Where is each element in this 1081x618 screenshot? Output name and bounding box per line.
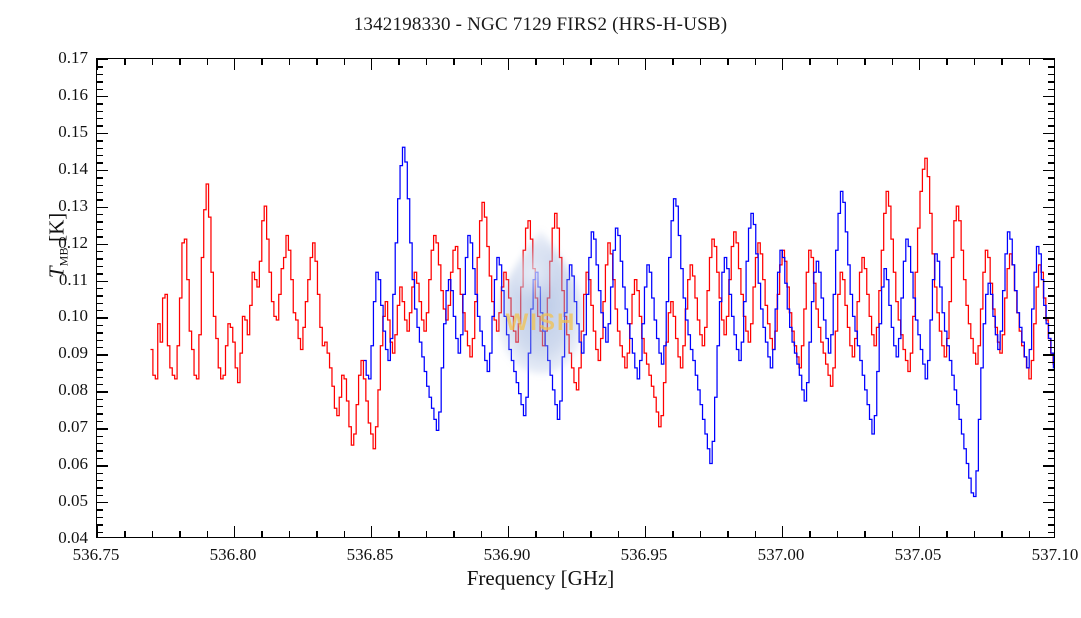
x-minor-tick-top	[946, 59, 947, 65]
x-minor-tick	[316, 531, 317, 537]
y-minor-tick	[97, 162, 103, 163]
spectrum-plot-figure: 1342198330 - NGC 7129 FIRS2 (HRS-H-USB) …	[0, 0, 1081, 618]
y-minor-tick	[97, 487, 103, 488]
y-minor-tick	[97, 495, 103, 496]
x-major-tick	[508, 526, 509, 537]
spectrum-traces	[97, 59, 1054, 537]
y-minor-tick-right	[1048, 509, 1054, 510]
x-minor-tick-top	[344, 59, 345, 65]
y-major-tick-right	[1043, 170, 1054, 171]
x-tick-label: 537.05	[895, 545, 942, 565]
x-major-tick-top	[508, 59, 509, 70]
x-minor-tick	[124, 531, 125, 537]
y-major-tick	[97, 207, 108, 208]
y-minor-tick-right	[1048, 251, 1054, 252]
y-minor-tick-right	[1048, 377, 1054, 378]
y-minor-tick-right	[1048, 236, 1054, 237]
y-minor-tick	[97, 111, 103, 112]
y-minor-tick-right	[1048, 406, 1054, 407]
y-minor-tick-right	[1048, 399, 1054, 400]
x-minor-tick	[700, 531, 701, 537]
y-minor-tick-right	[1048, 362, 1054, 363]
y-major-tick	[97, 428, 108, 429]
spectrum-trace-blue-spectrum	[364, 136, 1054, 496]
y-minor-tick	[97, 288, 103, 289]
y-minor-tick-right	[1048, 458, 1054, 459]
x-minor-tick	[946, 531, 947, 537]
x-minor-tick	[289, 531, 290, 537]
y-major-tick	[97, 354, 108, 355]
x-minor-tick	[535, 531, 536, 537]
y-minor-tick-right	[1048, 325, 1054, 326]
x-minor-tick-top	[316, 59, 317, 65]
x-minor-tick	[344, 531, 345, 537]
y-tick-label: 0.08	[4, 380, 88, 400]
x-minor-tick	[1029, 531, 1030, 537]
y-major-tick-right	[1043, 465, 1054, 466]
y-tick-label: 0.16	[4, 85, 88, 105]
y-minor-tick-right	[1048, 473, 1054, 474]
y-tick-label: 0.14	[4, 159, 88, 179]
x-minor-tick-top	[974, 59, 975, 65]
y-minor-tick-right	[1048, 162, 1054, 163]
y-minor-tick	[97, 480, 103, 481]
y-minor-tick	[97, 81, 103, 82]
y-major-tick-right	[1043, 96, 1054, 97]
y-minor-tick	[97, 273, 103, 274]
plot-area: WISH	[96, 58, 1055, 538]
x-minor-tick	[864, 531, 865, 537]
x-minor-tick-top	[590, 59, 591, 65]
y-minor-tick	[97, 369, 103, 370]
x-minor-tick-top	[152, 59, 153, 65]
y-minor-tick-right	[1048, 347, 1054, 348]
y-minor-tick	[97, 450, 103, 451]
y-minor-tick-right	[1048, 74, 1054, 75]
y-minor-tick	[97, 406, 103, 407]
x-minor-tick	[179, 531, 180, 537]
x-major-tick-top	[371, 59, 372, 70]
y-minor-tick	[97, 436, 103, 437]
y-major-tick	[97, 317, 108, 318]
y-minor-tick	[97, 258, 103, 259]
x-major-tick-top	[919, 59, 920, 70]
x-minor-tick-top	[179, 59, 180, 65]
y-minor-tick-right	[1048, 332, 1054, 333]
y-major-tick-right	[1043, 502, 1054, 503]
y-minor-tick	[97, 214, 103, 215]
x-minor-tick	[453, 531, 454, 537]
y-minor-tick-right	[1048, 118, 1054, 119]
y-minor-tick	[97, 384, 103, 385]
y-minor-tick	[97, 399, 103, 400]
y-minor-tick-right	[1048, 125, 1054, 126]
x-minor-tick-top	[864, 59, 865, 65]
x-major-tick	[645, 526, 646, 537]
x-tick-label: 536.90	[484, 545, 531, 565]
y-minor-tick	[97, 118, 103, 119]
y-minor-tick-right	[1048, 532, 1054, 533]
y-minor-tick-right	[1048, 369, 1054, 370]
y-minor-tick	[97, 295, 103, 296]
y-minor-tick	[97, 185, 103, 186]
y-major-tick	[97, 133, 108, 134]
y-major-tick-right	[1043, 354, 1054, 355]
x-minor-tick-top	[261, 59, 262, 65]
y-minor-tick-right	[1048, 384, 1054, 385]
x-minor-tick	[1001, 531, 1002, 537]
y-major-tick-right	[1043, 317, 1054, 318]
y-minor-tick-right	[1048, 221, 1054, 222]
y-minor-tick	[97, 192, 103, 193]
y-minor-tick	[97, 332, 103, 333]
y-major-tick	[97, 281, 108, 282]
y-major-tick-right	[1043, 207, 1054, 208]
y-minor-tick-right	[1048, 89, 1054, 90]
y-tick-label: 0.07	[4, 417, 88, 437]
y-tick-label: 0.09	[4, 343, 88, 363]
x-minor-tick-top	[289, 59, 290, 65]
x-minor-tick-top	[426, 59, 427, 65]
x-minor-tick-top	[1001, 59, 1002, 65]
x-minor-tick	[481, 531, 482, 537]
y-minor-tick-right	[1048, 517, 1054, 518]
y-axis-title-symbol: T	[45, 266, 69, 278]
y-minor-tick	[97, 413, 103, 414]
y-minor-tick	[97, 473, 103, 474]
y-minor-tick-right	[1048, 273, 1054, 274]
y-minor-tick-right	[1048, 214, 1054, 215]
y-minor-tick	[97, 251, 103, 252]
y-minor-tick	[97, 125, 103, 126]
page-title: 1342198330 - NGC 7129 FIRS2 (HRS-H-USB)	[0, 14, 1081, 36]
y-minor-tick	[97, 458, 103, 459]
y-minor-tick	[97, 303, 103, 304]
y-minor-tick	[97, 517, 103, 518]
y-minor-tick	[97, 74, 103, 75]
y-minor-tick	[97, 524, 103, 525]
y-minor-tick-right	[1048, 443, 1054, 444]
y-major-tick-right	[1043, 391, 1054, 392]
y-minor-tick	[97, 155, 103, 156]
x-minor-tick	[152, 531, 153, 537]
y-tick-label: 0.04	[4, 528, 88, 548]
y-minor-tick-right	[1048, 199, 1054, 200]
y-minor-tick-right	[1048, 288, 1054, 289]
y-minor-tick-right	[1048, 421, 1054, 422]
y-major-tick	[97, 96, 108, 97]
y-minor-tick	[97, 89, 103, 90]
x-minor-tick	[618, 531, 619, 537]
x-minor-tick-top	[672, 59, 673, 65]
x-major-tick	[371, 526, 372, 537]
y-tick-label: 0.10	[4, 306, 88, 326]
x-minor-tick-top	[1029, 59, 1030, 65]
x-minor-tick-top	[535, 59, 536, 65]
x-minor-tick	[755, 531, 756, 537]
y-minor-tick-right	[1048, 524, 1054, 525]
x-minor-tick	[809, 531, 810, 537]
y-minor-tick	[97, 221, 103, 222]
x-major-tick	[919, 526, 920, 537]
y-minor-tick	[97, 229, 103, 230]
y-axis-title-unit: [K]	[45, 213, 69, 247]
x-minor-tick	[590, 531, 591, 537]
x-major-tick	[782, 526, 783, 537]
y-major-tick	[97, 391, 108, 392]
x-major-tick	[234, 526, 235, 537]
y-major-tick-right	[1043, 281, 1054, 282]
y-minor-tick-right	[1048, 185, 1054, 186]
y-minor-tick	[97, 443, 103, 444]
y-minor-tick-right	[1048, 103, 1054, 104]
y-major-tick	[97, 59, 108, 60]
y-minor-tick	[97, 177, 103, 178]
x-minor-tick-top	[837, 59, 838, 65]
y-major-tick-right	[1043, 428, 1054, 429]
x-minor-tick	[426, 531, 427, 537]
x-major-tick-top	[645, 59, 646, 70]
x-tick-label: 536.75	[73, 545, 120, 565]
y-minor-tick	[97, 325, 103, 326]
y-minor-tick-right	[1048, 303, 1054, 304]
y-major-tick-right	[1043, 244, 1054, 245]
y-axis-title-subscript: MB	[56, 247, 70, 266]
y-minor-tick	[97, 148, 103, 149]
y-minor-tick-right	[1048, 487, 1054, 488]
y-minor-tick-right	[1048, 495, 1054, 496]
y-major-tick	[97, 170, 108, 171]
y-minor-tick-right	[1048, 266, 1054, 267]
y-minor-tick-right	[1048, 229, 1054, 230]
y-tick-label: 0.05	[4, 491, 88, 511]
x-minor-tick-top	[755, 59, 756, 65]
x-minor-tick	[672, 531, 673, 537]
x-tick-label: 536.95	[621, 545, 668, 565]
y-minor-tick	[97, 340, 103, 341]
x-minor-tick-top	[618, 59, 619, 65]
y-minor-tick	[97, 199, 103, 200]
x-tick-label: 536.80	[210, 545, 257, 565]
y-minor-tick-right	[1048, 480, 1054, 481]
x-minor-tick-top	[563, 59, 564, 65]
x-tick-label: 537.10	[1032, 545, 1079, 565]
y-minor-tick	[97, 103, 103, 104]
y-tick-label: 0.17	[4, 48, 88, 68]
y-minor-tick-right	[1048, 310, 1054, 311]
x-minor-tick-top	[453, 59, 454, 65]
y-minor-tick-right	[1048, 140, 1054, 141]
x-minor-tick	[974, 531, 975, 537]
y-major-tick-right	[1043, 59, 1054, 60]
spectrum-data-layer	[97, 59, 1054, 537]
y-minor-tick-right	[1048, 436, 1054, 437]
x-axis-title: Frequency [GHz]	[0, 566, 1081, 591]
x-major-tick-top	[234, 59, 235, 70]
x-minor-tick-top	[481, 59, 482, 65]
y-minor-tick	[97, 421, 103, 422]
x-minor-tick-top	[207, 59, 208, 65]
y-axis-title: TMB [K]	[45, 185, 72, 305]
x-minor-tick-top	[124, 59, 125, 65]
y-minor-tick	[97, 532, 103, 533]
y-minor-tick-right	[1048, 450, 1054, 451]
y-minor-tick	[97, 347, 103, 348]
y-tick-label: 0.15	[4, 122, 88, 142]
x-minor-tick	[837, 531, 838, 537]
y-minor-tick-right	[1048, 413, 1054, 414]
x-minor-tick-top	[398, 59, 399, 65]
x-minor-tick	[727, 531, 728, 537]
y-minor-tick-right	[1048, 155, 1054, 156]
x-minor-tick-top	[700, 59, 701, 65]
y-minor-tick-right	[1048, 111, 1054, 112]
x-minor-tick-top	[892, 59, 893, 65]
x-minor-tick-top	[727, 59, 728, 65]
y-minor-tick	[97, 310, 103, 311]
y-minor-tick-right	[1048, 66, 1054, 67]
spectrum-trace-red-spectrum	[150, 147, 1054, 537]
y-minor-tick	[97, 509, 103, 510]
y-tick-label: 0.06	[4, 454, 88, 474]
x-major-tick-top	[782, 59, 783, 70]
y-major-tick	[97, 244, 108, 245]
y-minor-tick	[97, 377, 103, 378]
y-minor-tick-right	[1048, 192, 1054, 193]
x-minor-tick-top	[809, 59, 810, 65]
x-minor-tick	[261, 531, 262, 537]
y-minor-tick-right	[1048, 295, 1054, 296]
y-minor-tick-right	[1048, 81, 1054, 82]
x-minor-tick	[563, 531, 564, 537]
x-tick-label: 537.00	[758, 545, 805, 565]
x-minor-tick	[207, 531, 208, 537]
y-minor-tick-right	[1048, 258, 1054, 259]
x-minor-tick	[398, 531, 399, 537]
y-minor-tick-right	[1048, 340, 1054, 341]
y-minor-tick	[97, 266, 103, 267]
y-minor-tick-right	[1048, 148, 1054, 149]
y-minor-tick	[97, 236, 103, 237]
y-major-tick-right	[1043, 133, 1054, 134]
y-minor-tick-right	[1048, 177, 1054, 178]
x-tick-label: 536.85	[347, 545, 394, 565]
y-major-tick	[97, 465, 108, 466]
x-minor-tick	[892, 531, 893, 537]
y-minor-tick	[97, 66, 103, 67]
y-major-tick	[97, 502, 108, 503]
x-major-tick-top	[97, 59, 98, 70]
y-minor-tick	[97, 362, 103, 363]
y-minor-tick	[97, 140, 103, 141]
